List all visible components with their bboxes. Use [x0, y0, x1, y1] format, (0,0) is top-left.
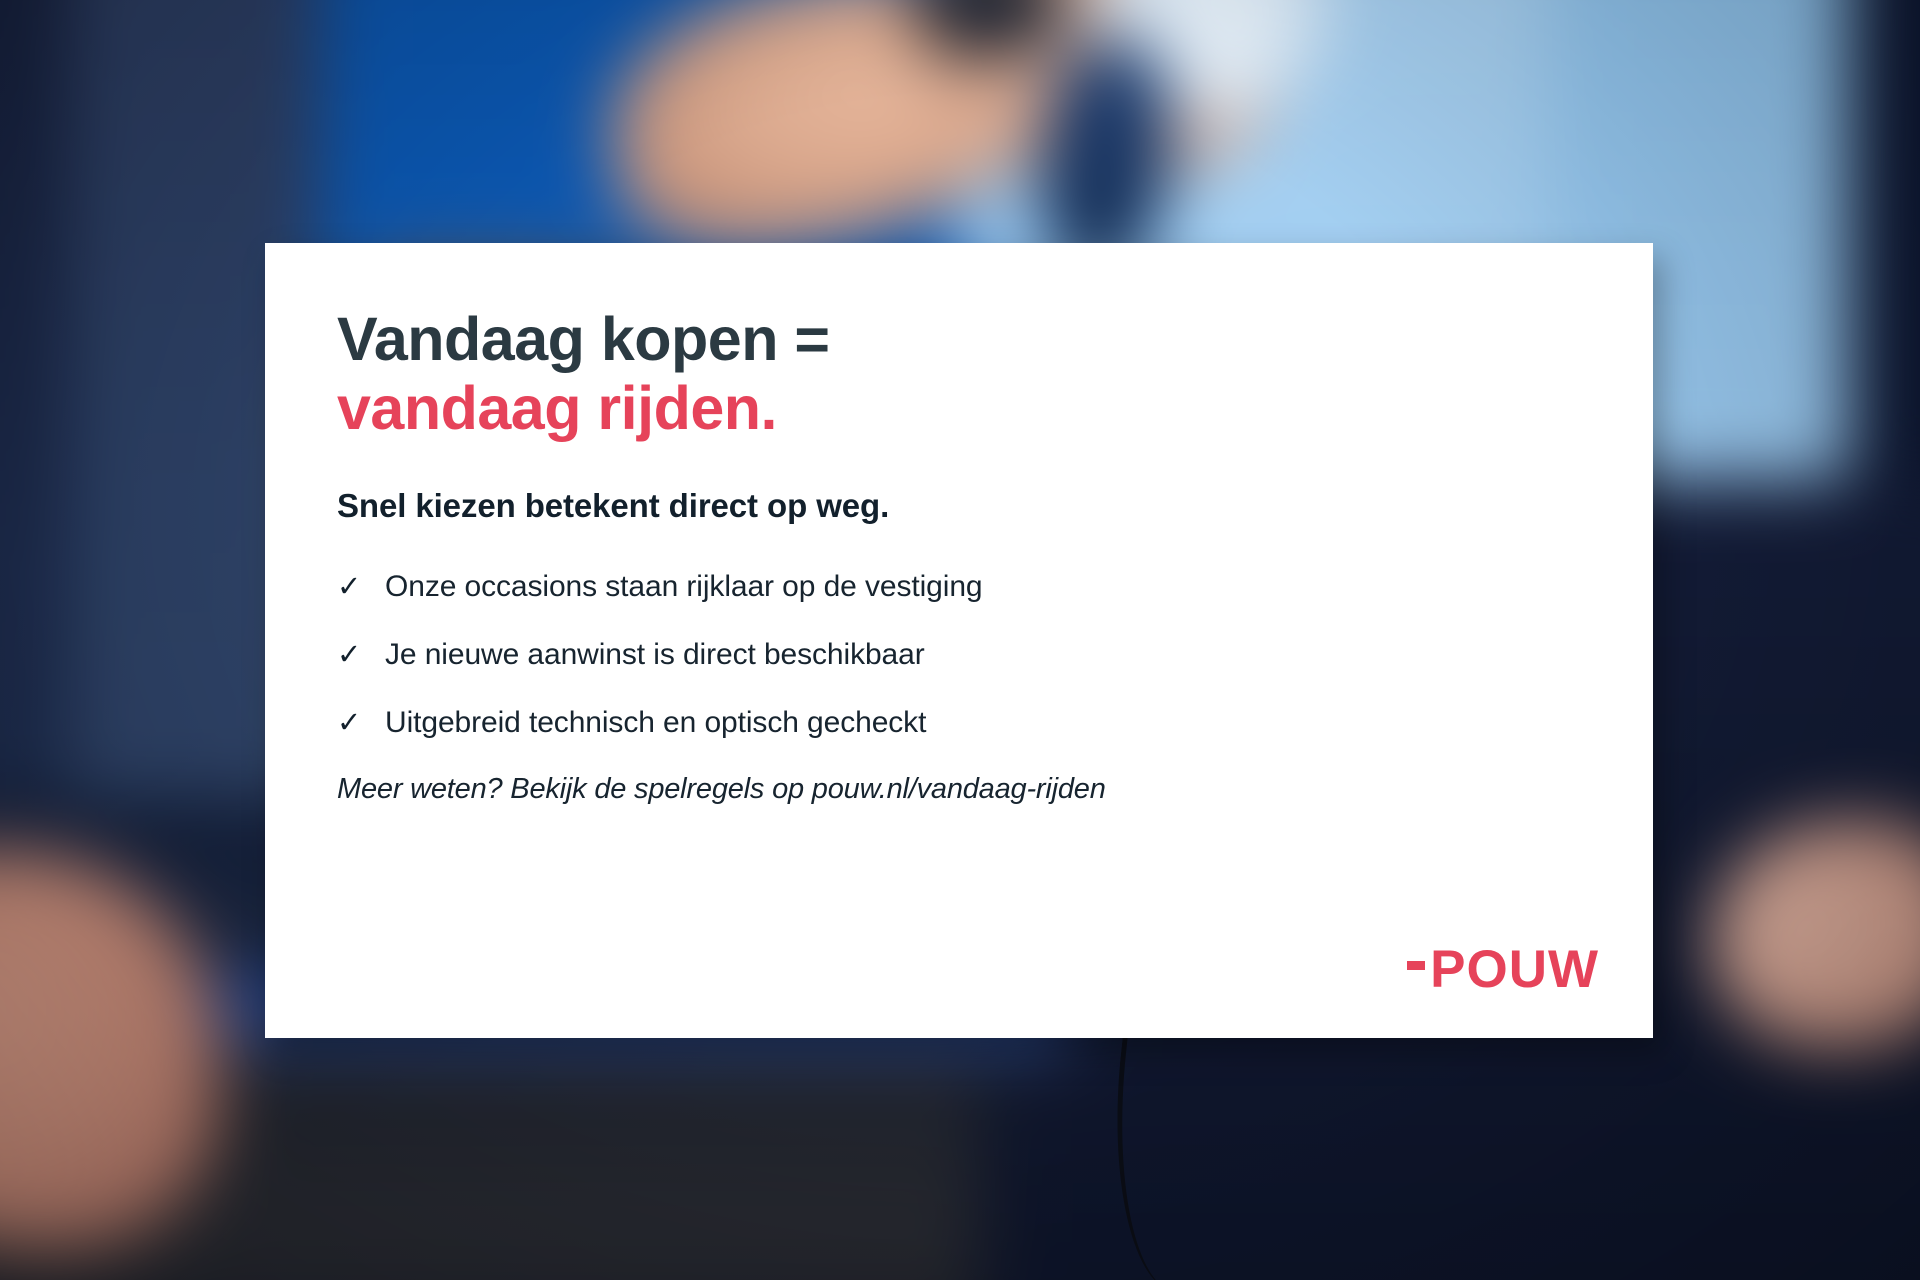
logo-dash-icon — [1407, 961, 1425, 970]
list-item: ✓ Onze occasions staan rijklaar op de ve… — [337, 569, 1581, 604]
check-icon: ✓ — [337, 637, 385, 672]
pouw-logo[interactable]: POUW — [1407, 943, 1599, 996]
list-item-label: Onze occasions staan rijklaar op de vest… — [385, 570, 983, 604]
headline-line-2: vandaag rijden. — [337, 374, 1581, 443]
content-card: Vandaag kopen = vandaag rijden. Snel kie… — [265, 243, 1653, 1038]
list-item-label: Uitgebreid technisch en optisch gecheckt — [385, 706, 926, 740]
logo-wordmark: POUW — [1430, 943, 1599, 996]
promo-banner: Vandaag kopen = vandaag rijden. Snel kie… — [0, 0, 1920, 1280]
check-icon: ✓ — [337, 705, 385, 740]
card-content: Vandaag kopen = vandaag rijden. Snel kie… — [265, 243, 1653, 1038]
benefit-list: ✓ Onze occasions staan rijklaar op de ve… — [337, 569, 1581, 740]
headline-line-1: Vandaag kopen = — [337, 305, 830, 373]
list-item: ✓ Je nieuwe aanwinst is direct beschikba… — [337, 637, 1581, 672]
subheadline: Snel kiezen betekent direct op weg. — [337, 487, 1581, 525]
footnote: Meer weten? Bekijk de spelregels op pouw… — [337, 773, 1581, 806]
list-item: ✓ Uitgebreid technisch en optisch gechec… — [337, 705, 1581, 740]
check-icon: ✓ — [337, 569, 385, 604]
headline: Vandaag kopen = vandaag rijden. — [337, 305, 1581, 443]
list-item-label: Je nieuwe aanwinst is direct beschikbaar — [385, 638, 925, 672]
